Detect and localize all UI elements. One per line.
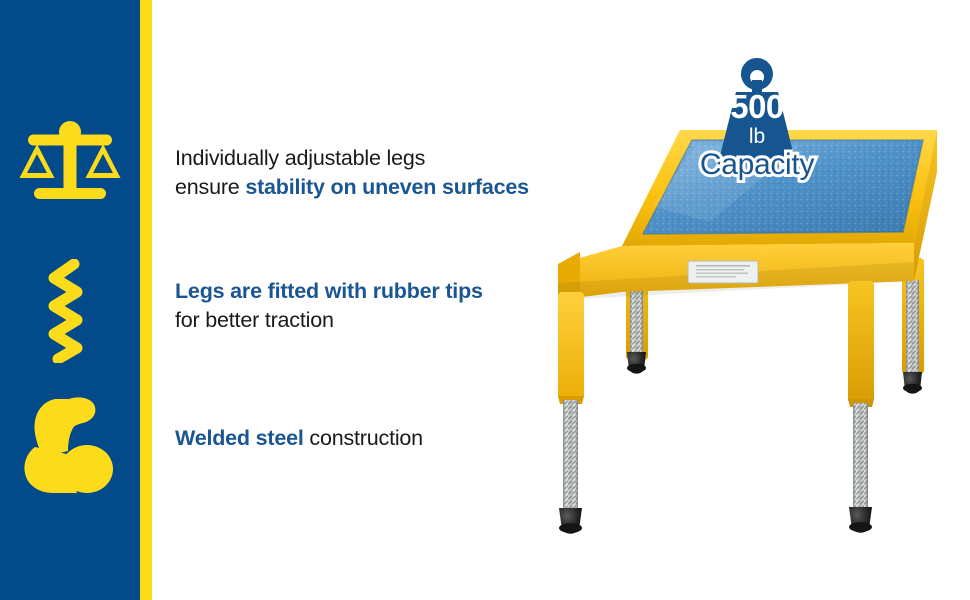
- feature-text-highlight: Legs are fitted with rubber tips: [175, 279, 483, 303]
- product-infographic: Individually adjustable legs ensure stab…: [0, 0, 970, 600]
- sidebar-accent-stripe: [140, 0, 152, 600]
- zigzag-spring-icon: [0, 255, 140, 367]
- capacity-unit: lb: [692, 126, 822, 147]
- feature-text-highlight: stability on uneven surfaces: [245, 175, 529, 199]
- capacity-caption: Capacity: [685, 150, 829, 180]
- capacity-value: 500: [692, 90, 822, 123]
- capacity-badge: 500 lb Capacity: [692, 52, 822, 202]
- balance-scale-icon: [0, 118, 140, 213]
- feature-text-plain: for better traction: [175, 308, 334, 332]
- feature-text-plain: construction: [304, 426, 423, 450]
- feature-text-plain: Individually adjustable legs: [175, 146, 425, 170]
- feature-text-plain: ensure: [175, 175, 245, 199]
- feature-text-highlight: Welded steel: [175, 426, 304, 450]
- flexed-bicep-icon: [0, 392, 140, 498]
